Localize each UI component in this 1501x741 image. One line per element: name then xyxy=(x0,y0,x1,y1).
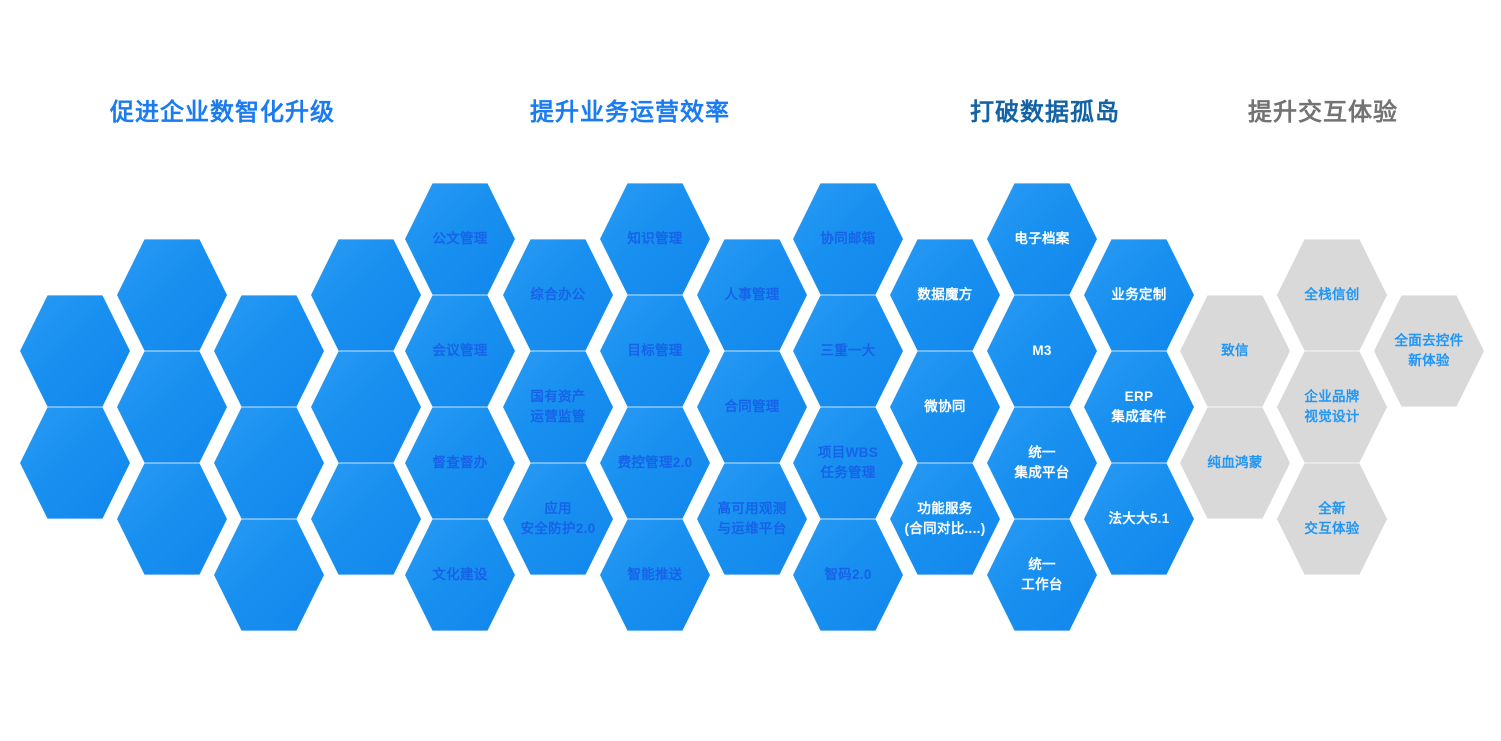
hex-label: 会议管理 xyxy=(426,341,493,361)
hex-tile-统一工作台[interactable]: 统一工作台 xyxy=(987,517,1097,633)
hex-tile-M3[interactable]: M3 xyxy=(987,293,1097,409)
hex-label: 数据魔方 xyxy=(911,285,978,305)
section-title-1: 促进企业数智化升级 xyxy=(110,101,335,125)
hex-tile-纯血鸿蒙[interactable]: 纯血鸿蒙 xyxy=(1180,405,1290,521)
hex-tile-智码2.0[interactable]: 智码2.0 xyxy=(793,517,903,633)
hex-label: 公文管理 xyxy=(426,229,493,249)
hex-label: 项目WBS任务管理 xyxy=(812,443,884,482)
hex-label: 合同管理 xyxy=(718,397,785,417)
hex-label: 业务定制 xyxy=(1105,285,1172,305)
hex-label: 目标管理 xyxy=(621,341,688,361)
hex-tile-功能服务合同对比....[interactable]: 功能服务(合同对比....) xyxy=(890,461,1000,577)
hex-label: 文化建设 xyxy=(426,565,493,585)
hex-tile-会议管理[interactable]: 会议管理 xyxy=(405,293,515,409)
hex-tile-费控管理2.0[interactable]: 费控管理2.0 xyxy=(600,405,710,521)
hex-tile-国有资产运营监管[interactable]: 国有资产运营监管 xyxy=(503,349,613,465)
hex-tile-全新交互体验[interactable]: 全新交互体验 xyxy=(1277,461,1387,577)
hex-tile-法大大5.1[interactable]: 法大大5.1 xyxy=(1084,461,1194,577)
hex-label: 全新交互体验 xyxy=(1298,499,1365,538)
section-title-3: 打破数据孤岛 xyxy=(970,101,1120,125)
hex-label: 知识管理 xyxy=(621,229,688,249)
hex-label: 协同邮箱 xyxy=(814,229,881,249)
hex-tile-blank-0[interactable] xyxy=(20,293,130,409)
hex-tile-blank-6[interactable] xyxy=(214,405,324,521)
hex-tile-致信[interactable]: 致信 xyxy=(1180,293,1290,409)
hex-tile-督查督办[interactable]: 督查督办 xyxy=(405,405,515,521)
hex-label: 智能推送 xyxy=(621,565,688,585)
hex-label: 高可用观测与运维平台 xyxy=(712,499,793,538)
hex-label: 统一工作台 xyxy=(1015,555,1068,594)
hex-label: 电子档案 xyxy=(1008,229,1075,249)
hex-label: 统一集成平台 xyxy=(1008,443,1075,482)
hex-tile-微协同[interactable]: 微协同 xyxy=(890,349,1000,465)
hex-tile-高可用观测与运维平台[interactable]: 高可用观测与运维平台 xyxy=(697,461,807,577)
section-title-4: 提升交互体验 xyxy=(1248,101,1398,125)
hex-tile-业务定制[interactable]: 业务定制 xyxy=(1084,237,1194,353)
hex-label: 费控管理2.0 xyxy=(612,453,699,473)
hex-label: 纯血鸿蒙 xyxy=(1201,453,1268,473)
hex-tile-blank-4[interactable] xyxy=(117,461,227,577)
hex-tile-文化建设[interactable]: 文化建设 xyxy=(405,517,515,633)
hex-tile-三重一大[interactable]: 三重一大 xyxy=(793,293,903,409)
hex-tile-综合办公[interactable]: 综合办公 xyxy=(503,237,613,353)
section-title-2: 提升业务运营效率 xyxy=(530,101,730,125)
hex-label: 人事管理 xyxy=(718,285,785,305)
hex-tile-公文管理[interactable]: 公文管理 xyxy=(405,181,515,297)
hex-label: 智码2.0 xyxy=(818,565,877,585)
hex-tile-blank-3[interactable] xyxy=(117,349,227,465)
hex-tile-全面去控件新体验[interactable]: 全面去控件新体验 xyxy=(1374,293,1484,409)
hex-label: 法大大5.1 xyxy=(1102,509,1175,529)
hex-tile-blank-1[interactable] xyxy=(20,405,130,521)
hex-tile-blank-9[interactable] xyxy=(311,349,421,465)
hex-tile-统一集成平台[interactable]: 统一集成平台 xyxy=(987,405,1097,521)
hex-label: 三重一大 xyxy=(814,341,881,361)
hex-tile-智能推送[interactable]: 智能推送 xyxy=(600,517,710,633)
hex-tile-项目WBS任务管理[interactable]: 项目WBS任务管理 xyxy=(793,405,903,521)
hex-label: 督查督办 xyxy=(426,453,493,473)
hex-tile-知识管理[interactable]: 知识管理 xyxy=(600,181,710,297)
hex-tile-blank-5[interactable] xyxy=(214,293,324,409)
hexagon-diagram-canvas: 促进企业数智化升级提升业务运营效率打破数据孤岛提升交互体验 公文管理会议管理督查… xyxy=(0,0,1501,741)
hex-tile-blank-2[interactable] xyxy=(117,237,227,353)
hex-tile-企业品牌视觉设计[interactable]: 企业品牌视觉设计 xyxy=(1277,349,1387,465)
hex-label: 综合办公 xyxy=(524,285,591,305)
hex-tile-blank-7[interactable] xyxy=(214,517,324,633)
hex-tile-协同邮箱[interactable]: 协同邮箱 xyxy=(793,181,903,297)
hex-label: 全面去控件新体验 xyxy=(1389,331,1470,370)
hex-tile-全栈信创[interactable]: 全栈信创 xyxy=(1277,237,1387,353)
hex-tile-电子档案[interactable]: 电子档案 xyxy=(987,181,1097,297)
hex-tile-人事管理[interactable]: 人事管理 xyxy=(697,237,807,353)
hex-tile-应用安全防护2.0[interactable]: 应用安全防护2.0 xyxy=(503,461,613,577)
hex-tile-数据魔方[interactable]: 数据魔方 xyxy=(890,237,1000,353)
hex-label: 功能服务(合同对比....) xyxy=(899,499,992,538)
hex-label: 微协同 xyxy=(918,397,971,417)
hex-label: M3 xyxy=(1026,341,1057,361)
hex-label: 全栈信创 xyxy=(1298,285,1365,305)
hex-label: 企业品牌视觉设计 xyxy=(1298,387,1365,426)
hex-tile-合同管理[interactable]: 合同管理 xyxy=(697,349,807,465)
hex-label: ERP集成套件 xyxy=(1105,387,1172,426)
hex-tile-blank-8[interactable] xyxy=(311,237,421,353)
hex-tile-ERP集成套件[interactable]: ERP集成套件 xyxy=(1084,349,1194,465)
hex-label: 国有资产运营监管 xyxy=(524,387,591,426)
hex-label: 应用安全防护2.0 xyxy=(515,499,602,538)
hex-label: 致信 xyxy=(1215,341,1255,361)
hex-tile-blank-10[interactable] xyxy=(311,461,421,577)
hex-tile-目标管理[interactable]: 目标管理 xyxy=(600,293,710,409)
